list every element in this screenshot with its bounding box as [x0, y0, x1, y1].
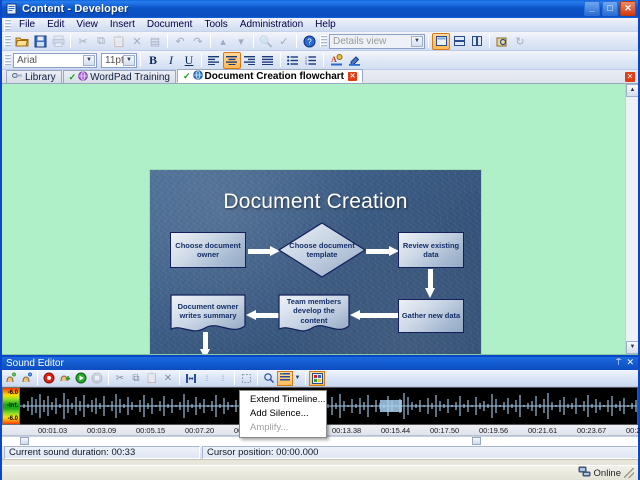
redo-icon[interactable]: ↷ — [189, 33, 207, 50]
waveform-display[interactable] — [20, 387, 638, 425]
insert-sound-icon[interactable]: + — [18, 371, 34, 386]
numbered-list-button[interactable]: 123 — [302, 52, 320, 69]
timeline-tick-3: 00:05.15 — [136, 426, 165, 435]
single-pane-layout-icon[interactable] — [432, 33, 450, 50]
menu-bar: File Edit View Insert Document Tools Adm… — [2, 18, 638, 32]
find-icon[interactable]: 🔍 — [257, 33, 275, 50]
flow-node-gather-data-label: Gather new data — [402, 311, 460, 320]
align-center-button[interactable] — [223, 52, 241, 69]
menu-item-add-silence[interactable]: Add Silence... — [240, 407, 326, 421]
cut-icon[interactable]: ✂ — [74, 33, 92, 50]
document-tab-strip: Library ✓ WordPad Training ✓ Document Cr… — [2, 70, 638, 84]
timeline-tick-13: 00:25.73 — [626, 426, 640, 435]
toolbar-separator-5 — [296, 34, 297, 48]
properties-icon[interactable]: ▤ — [146, 33, 164, 50]
italic-button[interactable]: I — [162, 52, 180, 69]
details-view-combo[interactable]: Details view ▼ — [329, 34, 425, 49]
details-view-combo-value: Details view — [333, 36, 386, 47]
tab-library[interactable]: Library — [6, 70, 62, 83]
sound-editor-toolbar: + + ✂ ⧉ 📋 ✕ — [2, 370, 638, 387]
timeline-tick-4: 00:07.20 — [185, 426, 214, 435]
crop-icon[interactable] — [238, 371, 254, 386]
format-toolbar-grip[interactable] — [4, 54, 11, 66]
format-separator-3 — [280, 53, 281, 67]
open-folder-icon[interactable] — [13, 33, 31, 50]
sound-separator-2 — [108, 371, 109, 385]
globe-icon — [193, 70, 203, 83]
svg-text:?: ? — [307, 37, 312, 46]
application-status-bar: Online — [2, 465, 638, 480]
tab-wordpad-training[interactable]: ✓ WordPad Training — [63, 70, 176, 83]
toolbar-separator-4 — [253, 34, 254, 48]
underline-button[interactable]: U — [180, 52, 198, 69]
format-separator-4 — [323, 53, 324, 67]
globe-icon — [78, 71, 88, 84]
flowchart-slide[interactable]: Document Creation Choose document owner — [149, 169, 482, 355]
level-meter-bottom-label: -6.0 — [8, 416, 18, 422]
connector-summary-to-publish — [200, 332, 211, 355]
toolbar-separator-7 — [489, 34, 490, 48]
horizontal-split-layout-icon[interactable] — [450, 33, 468, 50]
flow-node-review-data-label: Review existing data — [401, 241, 461, 260]
close-all-tabs-icon[interactable]: ✕ — [625, 72, 635, 82]
flow-node-develop-content-label: Team members develop the content — [280, 297, 348, 325]
tab-document-creation-flowchart-label: Document Creation flowchart — [205, 71, 344, 82]
marker2-icon[interactable]: ⁞ — [215, 371, 231, 386]
record-icon[interactable] — [41, 371, 57, 386]
chevron-down-icon[interactable]: ▼ — [123, 55, 135, 66]
print-icon[interactable] — [49, 33, 67, 50]
svg-text:+: + — [12, 373, 14, 377]
align-right-button[interactable] — [241, 52, 259, 69]
minimize-button[interactable]: _ — [584, 1, 600, 16]
slide-title: Document Creation — [150, 190, 481, 214]
flow-node-writes-summary[interactable]: Document owner writes summary — [170, 294, 246, 334]
sound-separator-4 — [234, 371, 235, 385]
copy-icon[interactable]: ⧉ — [128, 371, 144, 386]
marker-icon[interactable]: ⁞ — [199, 371, 215, 386]
move-down-icon[interactable]: ▾ — [232, 33, 250, 50]
check-icon: ✓ — [69, 72, 77, 83]
connector-template-to-review — [366, 246, 400, 257]
toolbar-separator — [70, 34, 71, 48]
stop-icon[interactable] — [89, 371, 105, 386]
toolbar-separator-2 — [167, 34, 168, 48]
menu-tools[interactable]: Tools — [198, 18, 233, 32]
scroll-thumb-left[interactable] — [20, 437, 29, 445]
properties-icon[interactable] — [309, 371, 325, 386]
menu-document[interactable]: Document — [141, 18, 199, 32]
format-separator-1 — [140, 53, 141, 67]
menu-administration[interactable]: Administration — [234, 18, 309, 32]
font-name-combo[interactable]: Arial ▼ — [13, 53, 97, 68]
timeline-context-menu[interactable]: Extend Timeline... Add Silence... Amplif… — [239, 390, 327, 438]
highlight-color-button[interactable] — [345, 52, 363, 69]
flow-node-choose-template-label: Choose document template — [278, 241, 366, 260]
font-color-button[interactable]: A — [327, 52, 345, 69]
zoom-icon[interactable] — [261, 371, 277, 386]
delete-icon[interactable]: ✕ — [128, 33, 146, 50]
menu-item-extend-timeline[interactable]: Extend Timeline... — [240, 393, 326, 407]
undo-icon[interactable]: ↶ — [171, 33, 189, 50]
sound-separator-6 — [305, 371, 306, 385]
connector-develop-to-summary — [246, 310, 280, 321]
timeline-tick-10: 00:19.56 — [479, 426, 508, 435]
sound-editor-title: Sound Editor — [6, 358, 64, 369]
flow-node-choose-template[interactable]: Choose document template — [278, 222, 366, 278]
font-size-combo[interactable]: 11pt ▼ — [101, 53, 137, 68]
format-separator-2 — [201, 53, 202, 67]
bold-button[interactable]: B — [144, 52, 162, 69]
sound-editor-title-bar: Sound Editor ⍑ ✕ — [2, 357, 638, 370]
sound-separator-5 — [257, 371, 258, 385]
spellcheck-icon[interactable]: ✓ — [275, 33, 293, 50]
svg-text:+: + — [28, 373, 30, 377]
move-up-icon[interactable]: ▴ — [214, 33, 232, 50]
menu-grip[interactable] — [4, 19, 11, 31]
menu-view[interactable]: View — [70, 18, 104, 32]
menu-edit[interactable]: Edit — [41, 18, 70, 32]
preview-icon[interactable] — [493, 33, 511, 50]
tab-close-icon[interactable]: ✕ — [348, 72, 357, 81]
bullet-list-button[interactable] — [284, 52, 302, 69]
toolbar-separator-3 — [210, 34, 211, 48]
document-canvas[interactable]: Document Creation Choose document owner — [2, 84, 638, 355]
menu-item-amplify: Amplify... — [240, 421, 326, 435]
title-bar: Content - Developer _ □ ✕ — [2, 0, 638, 18]
flow-node-writes-summary-label: Document owner writes summary — [172, 302, 244, 321]
flow-node-choose-owner-label: Choose document owner — [173, 241, 243, 260]
connection-status-label: Online — [594, 468, 621, 479]
scroll-up-icon[interactable]: ▲ — [626, 84, 638, 97]
sound-separator-1 — [37, 371, 38, 385]
maximize-button[interactable]: □ — [602, 1, 618, 16]
svg-text:A: A — [331, 55, 337, 64]
import-sound-icon[interactable] — [57, 371, 73, 386]
scroll-thumb-right[interactable] — [472, 437, 481, 445]
format-toolbar: Arial ▼ 11pt ▼ B I U 123 — [2, 51, 638, 70]
play-icon[interactable] — [73, 371, 89, 386]
check-icon: ✓ — [183, 71, 191, 82]
font-name-value: Arial — [17, 55, 37, 66]
level-meter-top-label: -6.0 — [8, 390, 18, 396]
timeline-tick-9: 00:17.50 — [430, 426, 459, 435]
library-icon — [12, 71, 23, 83]
timeline-options-dropdown-icon[interactable]: ▼ — [293, 371, 302, 386]
connector-owner-to-template — [248, 246, 280, 257]
vertical-split-layout-icon[interactable] — [468, 33, 486, 50]
menu-help[interactable]: Help — [309, 18, 342, 32]
level-meter-mid-label: -Inf. — [7, 403, 18, 409]
application-window: Content - Developer _ □ ✕ File Edit View… — [0, 0, 640, 480]
help-icon[interactable]: ? — [300, 33, 318, 50]
paste-icon[interactable]: 📋 — [144, 371, 160, 386]
level-meter: -6.0 -Inf. -6.0 — [2, 387, 20, 425]
sound-duration-status: Current sound duration: 00:33 — [4, 446, 200, 459]
scroll-down-icon[interactable]: ▼ — [626, 341, 638, 354]
timeline-options-icon[interactable] — [277, 371, 293, 386]
flow-node-review-data[interactable]: Review existing data — [398, 232, 464, 268]
align-left-button[interactable] — [205, 52, 223, 69]
network-icon — [578, 466, 591, 480]
timeline-tick-7: 00:13.38 — [332, 426, 361, 435]
cursor-position-status: Cursor position: 00:00.000 — [202, 446, 638, 459]
tab-library-label: Library — [25, 72, 56, 83]
connector-gather-to-develop — [350, 310, 398, 321]
timeline-tick-11: 00:21.61 — [528, 426, 557, 435]
cut-icon[interactable]: ✂ — [112, 371, 128, 386]
paste-icon[interactable]: 📋 — [110, 33, 128, 50]
tab-document-creation-flowchart[interactable]: ✓ Document Creation flowchart ✕ — [177, 69, 363, 83]
document-vertical-scrollbar[interactable]: ▲ ▼ — [625, 84, 638, 354]
menu-insert[interactable]: Insert — [104, 18, 141, 32]
timeline-tick-12: 00:23.67 — [577, 426, 606, 435]
delete-icon[interactable]: ✕ — [160, 371, 176, 386]
save-icon[interactable] — [31, 33, 49, 50]
connector-review-to-gather — [425, 269, 436, 299]
refresh-icon[interactable]: ↻ — [511, 33, 529, 50]
window-controls: _ □ ✕ — [584, 1, 636, 16]
chevron-down-icon[interactable]: ▼ — [83, 55, 95, 66]
sound-separator-3 — [179, 371, 180, 385]
sound-editor-status-row: Current sound duration: 00:33 Cursor pos… — [2, 445, 638, 459]
align-justify-button[interactable] — [259, 52, 277, 69]
font-size-value: 11pt — [105, 55, 124, 66]
sound-editor-close-icon[interactable]: ✕ — [626, 357, 634, 368]
main-toolbar-grip[interactable] — [4, 35, 11, 47]
view-combo-grip[interactable] — [320, 35, 327, 47]
flow-node-gather-data[interactable]: Gather new data — [398, 299, 464, 333]
tab-wordpad-training-label: WordPad Training — [90, 72, 170, 83]
document-app-icon — [5, 2, 19, 16]
flow-node-choose-owner[interactable]: Choose document owner — [170, 232, 246, 268]
timeline-tick-1: 00:01.03 — [38, 426, 67, 435]
flow-node-develop-content[interactable]: Team members develop the content — [278, 294, 350, 334]
chevron-down-icon[interactable]: ▼ — [411, 36, 423, 47]
main-toolbar: ✂ ⧉ 📋 ✕ ▤ ↶ ↷ ▴ ▾ 🔍 ✓ ? Details view ▼ — [2, 32, 638, 51]
pin-icon[interactable]: ⍑ — [616, 357, 621, 368]
timeline-tick-2: 00:03.09 — [87, 426, 116, 435]
copy-icon[interactable]: ⧉ — [92, 33, 110, 50]
select-all-icon[interactable] — [183, 371, 199, 386]
resize-grip[interactable] — [624, 468, 634, 478]
timeline-tick-8: 00:15.44 — [381, 426, 410, 435]
close-button[interactable]: ✕ — [620, 1, 636, 16]
menu-file[interactable]: File — [13, 18, 41, 32]
svg-text:3: 3 — [305, 62, 307, 65]
toolbar-separator-6 — [428, 34, 429, 48]
record-new-icon[interactable]: + — [2, 371, 18, 386]
window-title: Content - Developer — [22, 3, 128, 15]
